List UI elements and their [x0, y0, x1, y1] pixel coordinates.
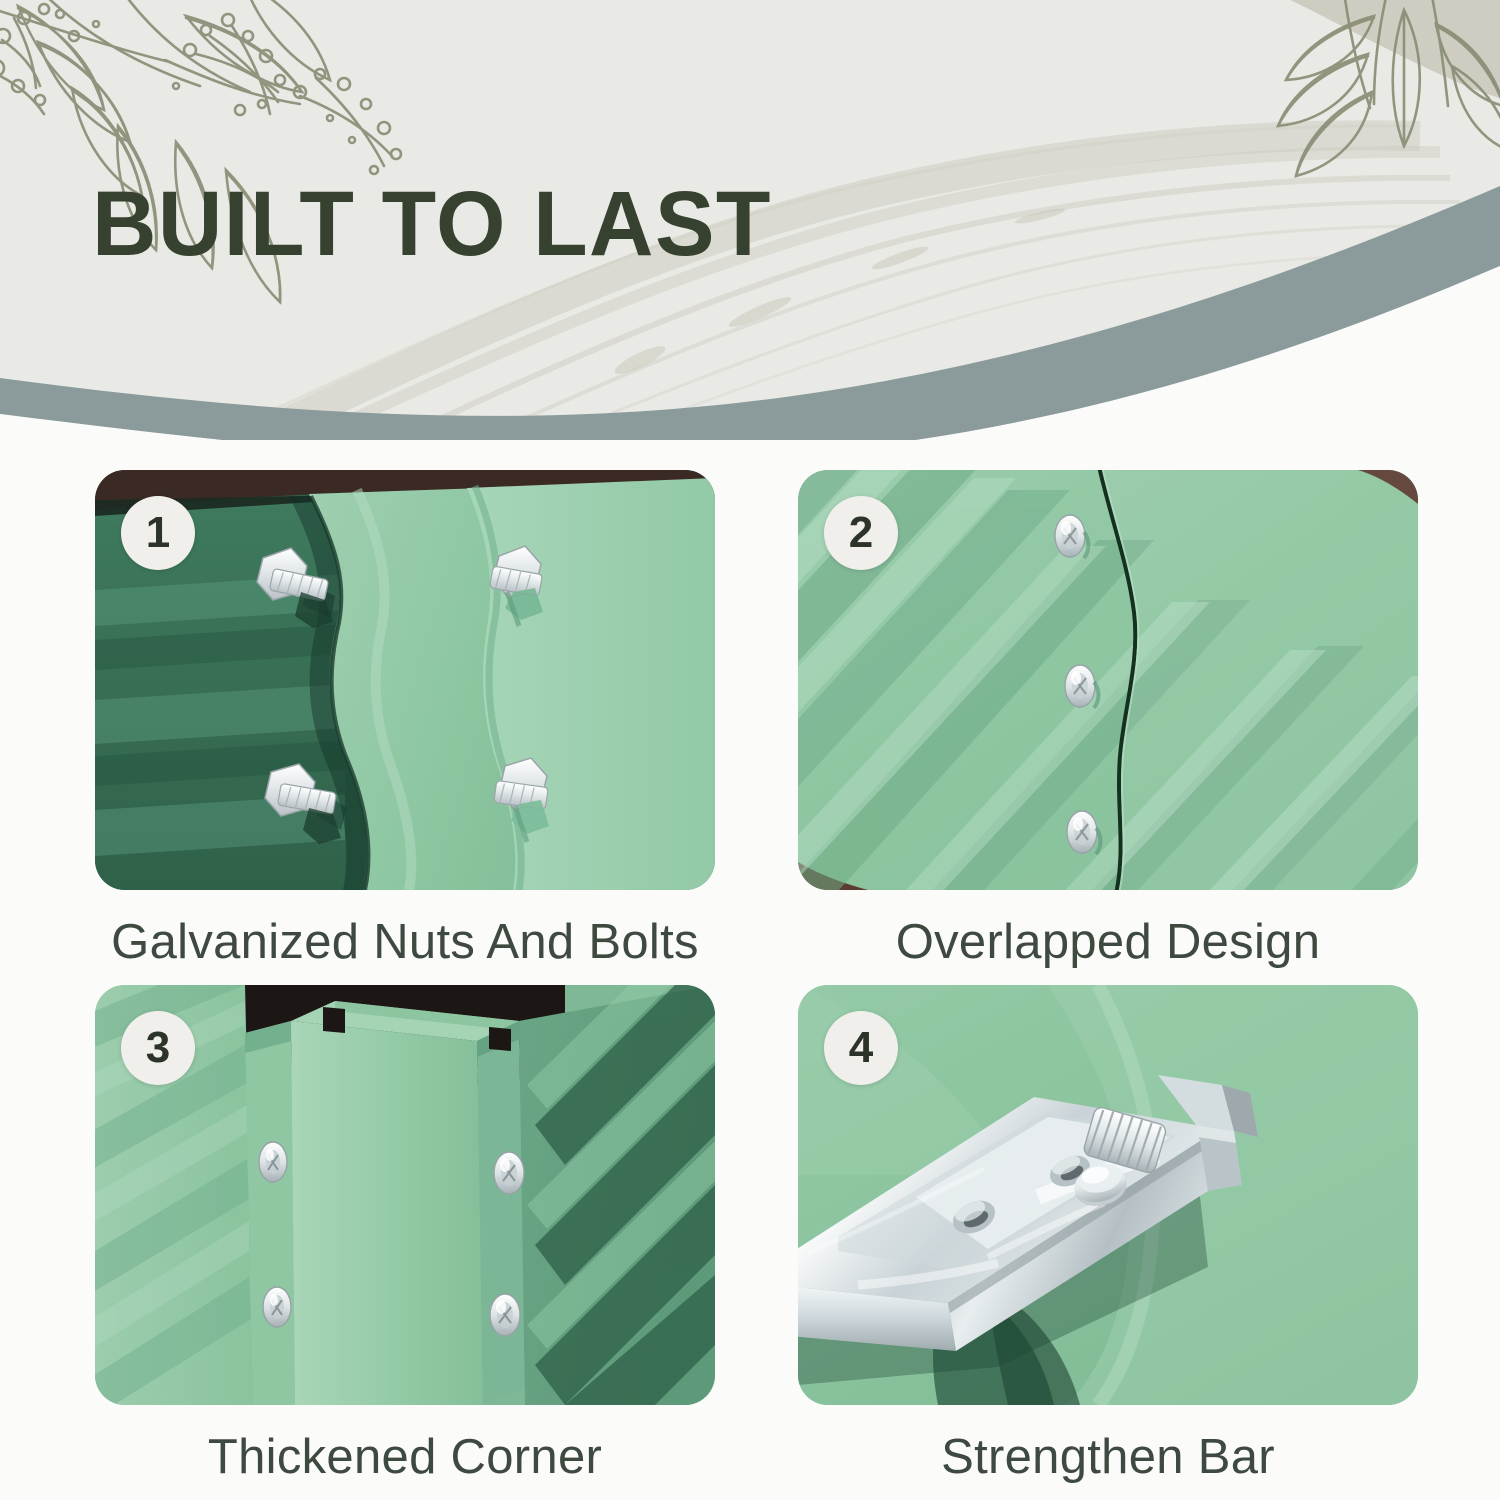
badge-number-3: 3: [121, 1011, 195, 1085]
feature-caption-1: Galvanized Nuts And Bolts: [95, 916, 715, 970]
feature-caption-4: Strengthen Bar: [798, 1431, 1418, 1485]
feature-grid: 1 Galvanized Nuts And Bolts: [0, 440, 1500, 1500]
feature-photo-4: 4: [798, 985, 1418, 1405]
badge-number-1: 1: [121, 496, 195, 570]
feature-card-3[interactable]: 3 Thickened Corner: [95, 985, 715, 1485]
page-title: BUILT TO LAST: [92, 178, 772, 270]
feature-card-1[interactable]: 1 Galvanized Nuts And Bolts: [95, 470, 715, 970]
infographic-page: BUILT TO LAST: [0, 0, 1500, 1500]
header-banner: BUILT TO LAST: [0, 0, 1500, 440]
badge-number-4: 4: [824, 1011, 898, 1085]
feature-caption-2: Overlapped Design: [798, 916, 1418, 970]
screw-left-upper: [259, 1142, 287, 1182]
feature-card-2[interactable]: 2 Overlapped Design: [798, 470, 1418, 970]
screw-right-upper: [494, 1152, 524, 1194]
badge-number-2: 2: [824, 496, 898, 570]
screw-right-lower: [490, 1294, 520, 1336]
feature-card-4[interactable]: 4 Strengthen Bar: [798, 985, 1418, 1485]
feature-photo-1: 1: [95, 470, 715, 890]
feature-caption-3: Thickened Corner: [95, 1431, 715, 1485]
feature-photo-3: 3: [95, 985, 715, 1405]
feature-photo-2: 2: [798, 470, 1418, 890]
screw-left-lower: [263, 1287, 291, 1327]
